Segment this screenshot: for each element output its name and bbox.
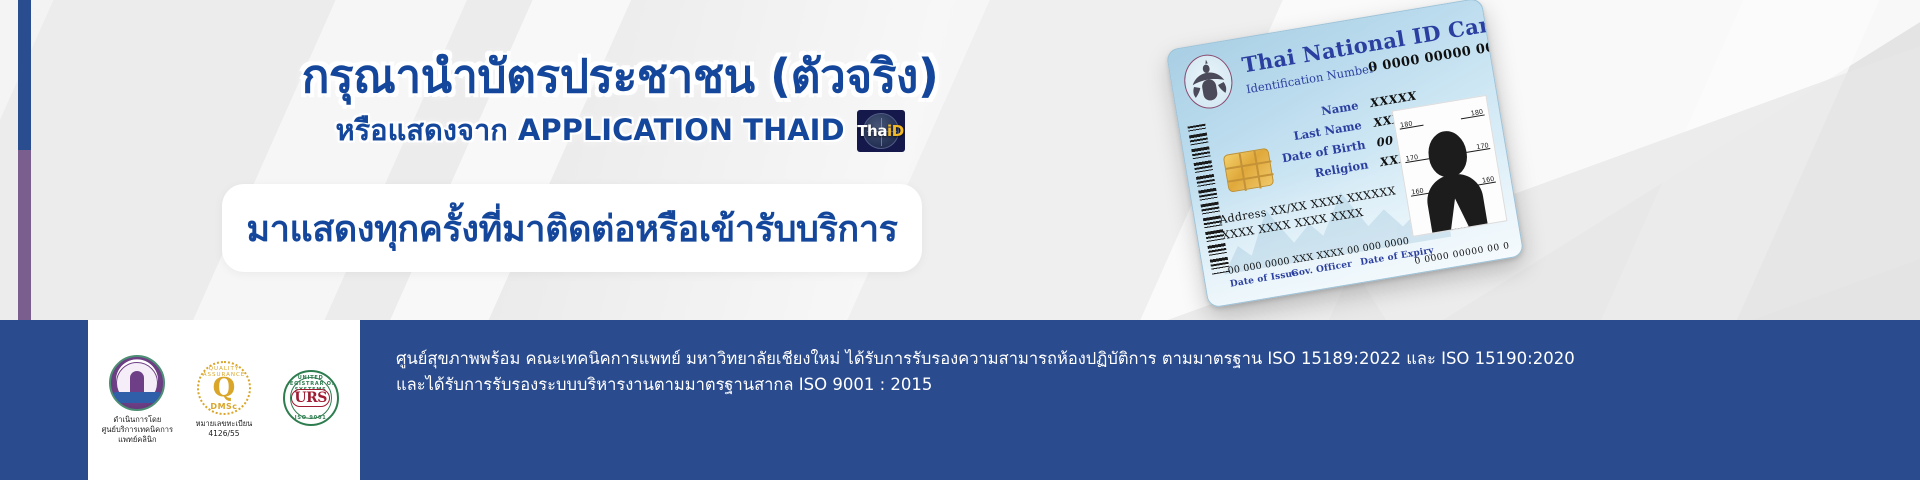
footer-logo-urs: UNITED REGISTRAR OF SYSTEMS URS ISO 9001 [268,370,354,430]
footer-line-2: และได้รับการรับรองระบบบริหารงานตามมาตรฐา… [396,372,1900,398]
cmu-amtec-seal-icon [109,355,165,411]
footer-line-1: ศูนย์สุขภาพพร้อม คณะเทคนิคการแพทย์ มหาวิ… [396,346,1900,372]
footer-logo-dmsc: QUALITY ASSURANCE Q DMSc หมายเลขทะเบียน … [181,361,267,439]
garuda-emblem-icon [1180,51,1236,112]
dmsc-quality-assurance-seal-icon: QUALITY ASSURANCE Q DMSc [197,361,251,415]
urs-iso9001-seal-icon: UNITED REGISTRAR OF SYSTEMS URS ISO 9001 [283,370,339,426]
page-title: กรุณานำบัตรประชาชน (ตัวจริง) [230,52,1010,102]
headline-block: กรุณานำบัตรประชาชน (ตัวจริง) หรือแสดงจาก… [230,52,1010,152]
callout-text: มาแสดงทุกครั้งที่มาติดต่อหรือเข้ารับบริก… [246,200,897,257]
footer-logo-dmsc-caption: หมายเลขทะเบียน 4126/55 [181,419,267,439]
thaid-logo-text-id: iD [887,122,904,140]
thai-national-id-card-image: Thai National ID Card Identification Num… [1166,0,1525,309]
accent-rail-purple [18,150,31,320]
footer-bar: ดำเนินการโดย ศูนย์บริการเทคนิคการแพทย์คล… [0,320,1920,480]
callout-pill: มาแสดงทุกครั้งที่มาติดต่อหรือเข้ารับบริก… [222,184,922,272]
footer-accreditation-text: ศูนย์สุขภาพพร้อม คณะเทคนิคการแพทย์ มหาวิ… [396,346,1900,397]
subheadline-row: หรือแสดงจาก APPLICATION THAID ThaiD [230,110,1010,152]
accent-rail-blue [18,0,31,150]
card-photo: 180 180 170 170 160 160 [1392,95,1508,237]
footer-logo-cmu: ดำเนินการโดย ศูนย์บริการเทคนิคการแพทย์คล… [94,355,180,445]
promotional-banner: กรุณานำบัตรประชาชน (ตัวจริง) หรือแสดงจาก… [0,0,1920,480]
card-photo-silhouette [1415,121,1487,233]
footer-logo-panel: ดำเนินการโดย ศูนย์บริการเทคนิคการแพทย์คล… [88,320,360,480]
page-subtitle: หรือแสดงจาก APPLICATION THAID [335,115,844,147]
card-smart-chip [1223,148,1275,193]
footer-logo-cmu-caption: ดำเนินการโดย ศูนย์บริการเทคนิคการแพทย์คล… [94,415,180,445]
thaid-app-logo: ThaiD [857,110,905,152]
thaid-logo-text-tha: Tha [857,122,887,140]
